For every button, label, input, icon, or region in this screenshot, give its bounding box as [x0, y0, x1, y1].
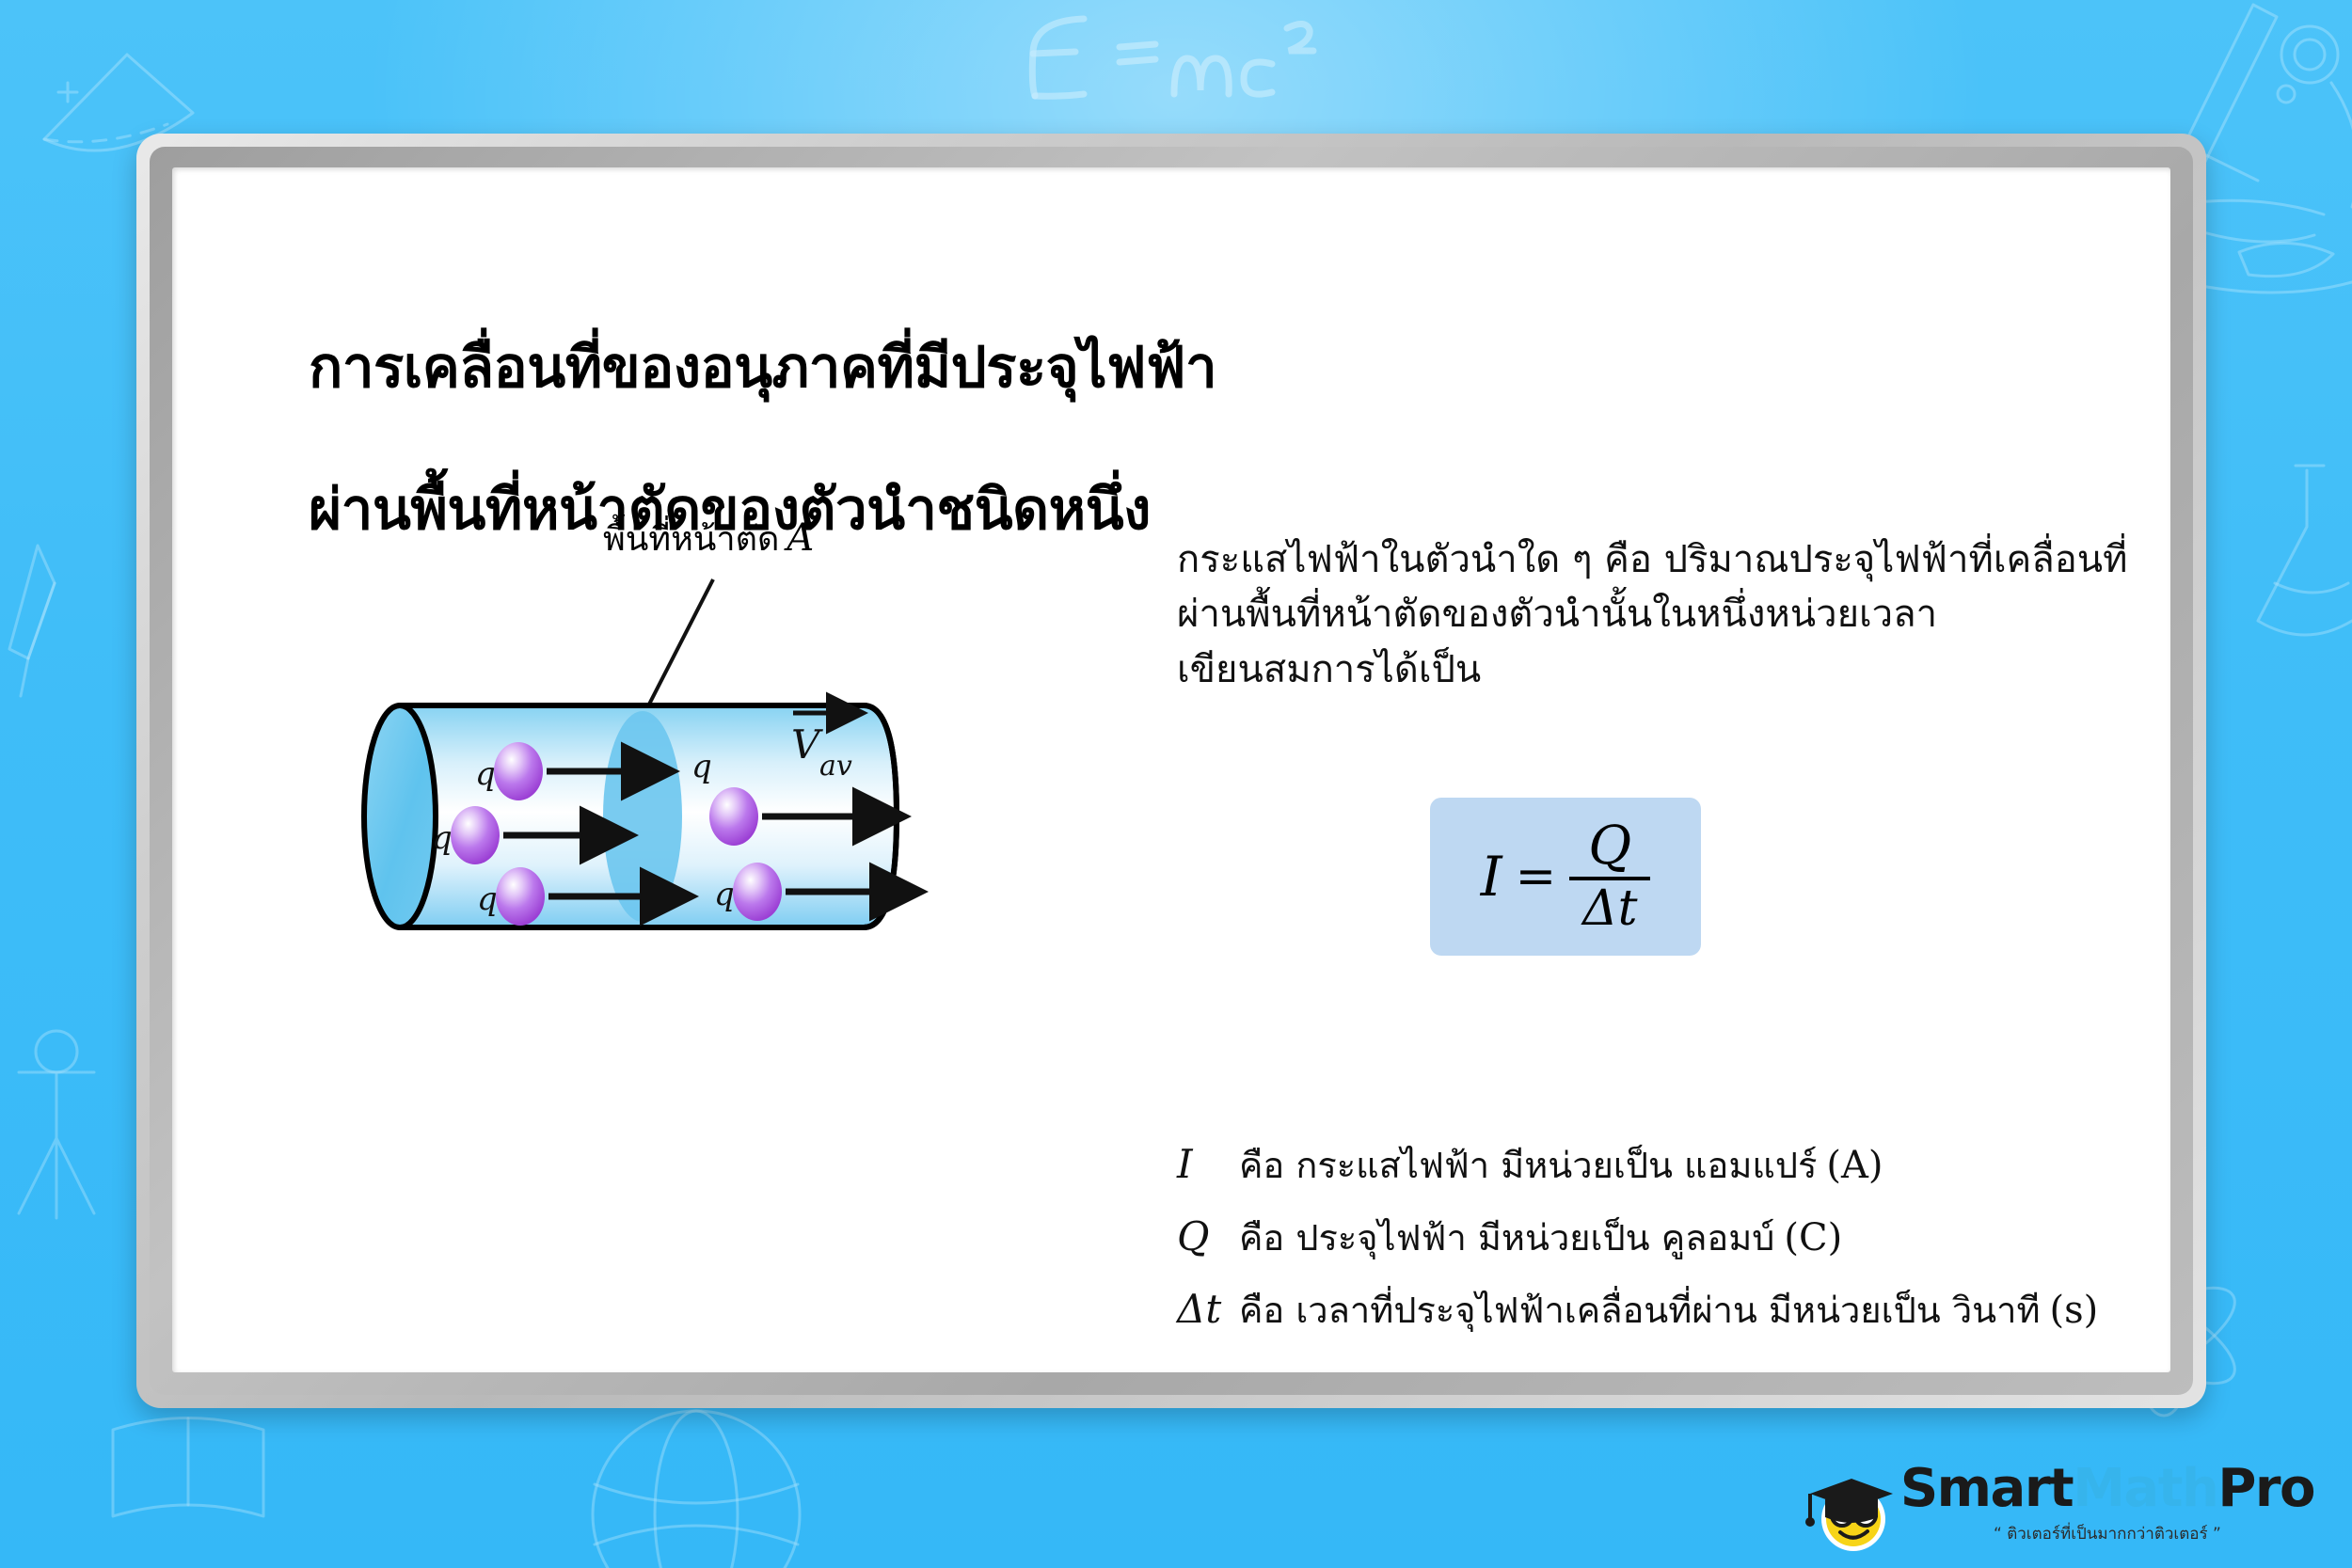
legend-unit: (s) [2041, 1289, 2099, 1332]
legend-description: คือ ประจุไฟฟ้า มีหน่วยเป็น คูลอมบ์ [1239, 1209, 1774, 1266]
book-doodle [113, 1418, 263, 1517]
formula-box: I = Q Δt [1430, 798, 1701, 956]
intro-paragraph: กระแสไฟฟ้าในตัวนำใด ๆ คือ ปริมาณประจุไฟฟ… [1177, 532, 2137, 697]
cylinder-left-cap [364, 705, 436, 927]
title-line-1: การเคลื่อนที่ของอนุภาคที่มีประจุไฟฟ้า [309, 333, 1216, 404]
legend-symbol: Q [1177, 1213, 1239, 1259]
intro-line-2: ผ่านพื้นที่หน้าตัดของตัวนำนั้นในหนึ่งหน่… [1177, 587, 2137, 641]
charge-label: q [691, 748, 712, 785]
pencil-doodle [9, 546, 55, 696]
whiteboard-surface: การเคลื่อนที่ของอนุภาคที่มีประจุไฟฟ้า ผ่… [172, 167, 2170, 1372]
velocity-subscript: av [819, 750, 852, 783]
symbol-legend: I คือ กระแสไฟฟ้า มีหน่วยเป็น แอมแปร์ (A)… [1177, 1136, 2170, 1354]
flask-doodle [2258, 466, 2352, 635]
globe-doodle [593, 1411, 800, 1568]
charge-label: q [477, 880, 498, 918]
legend-row: I คือ กระแสไฟฟ้า มีหน่วยเป็น แอมแปร์ (A) [1177, 1136, 2170, 1194]
charge-particle [451, 806, 500, 864]
graduate-face-icon [1804, 1470, 1895, 1557]
emc2-doodle [1032, 19, 1313, 96]
brand-logo: SmartMathPro “ ติวเตอร์ที่เป็นมากกว่าติว… [1804, 1463, 2314, 1557]
cross-section-ellipse [603, 711, 682, 922]
charge-label: q [714, 876, 735, 913]
cross-section-label-text: พื้นที่หน้าตัด [603, 520, 779, 559]
legend-row: Q คือ ประจุไฟฟ้า มีหน่วยเป็น คูลอมบ์ (C) [1177, 1209, 2170, 1266]
formula-equals-sign: = [1516, 848, 1557, 905]
formula-lhs: I [1481, 845, 1502, 909]
stand-doodle [19, 1031, 94, 1218]
legend-description: คือ เวลาที่ประจุไฟฟ้าเคลื่อนที่ผ่าน มีหน… [1239, 1281, 2041, 1338]
intro-line-3: เขียนสมการได้เป็น [1177, 642, 2137, 697]
cross-section-label: พื้นที่หน้าตัดA [603, 512, 814, 565]
intro-line-1: กระแสไฟฟ้าในตัวนำใด ๆ คือ ปริมาณประจุไฟฟ… [1177, 532, 2137, 587]
legend-symbol: Δt [1177, 1286, 1239, 1332]
legend-description: คือ กระแสไฟฟ้า มีหน่วยเป็น แอมแปร์ [1239, 1136, 1817, 1194]
charge-label: q [475, 755, 496, 793]
logo-word-math: Math [2073, 1458, 2217, 1519]
charge-particle [733, 863, 782, 921]
legend-unit: (A) [1817, 1144, 1883, 1187]
charge-particle [494, 742, 543, 800]
legend-unit: (C) [1774, 1216, 1842, 1259]
logo-tagline: “ ติวเตอร์ที่เป็นมากกว่าติวเตอร์ ” [1900, 1521, 2314, 1546]
conductor-diagram: พื้นที่หน้าตัดA [332, 506, 1160, 1221]
formula-numerator: Q [1588, 820, 1631, 877]
cylinder-svg: q q q q [332, 506, 1160, 1221]
legend-row: Δt คือ เวลาที่ประจุไฟฟ้าเคลื่อนที่ผ่าน ม… [1177, 1281, 2170, 1338]
formula-denominator: Δt [1582, 880, 1637, 933]
legend-symbol: I [1177, 1141, 1239, 1187]
logo-word-smart: Smart [1900, 1458, 2073, 1519]
velocity-symbol: V [791, 721, 823, 768]
logo-word-pro: Pro [2217, 1458, 2314, 1519]
charge-particle [496, 867, 545, 926]
logo-wordmark: SmartMathPro [1900, 1463, 2314, 1515]
whiteboard-frame: การเคลื่อนที่ของอนุภาคที่มีประจุไฟฟ้า ผ่… [136, 134, 2206, 1408]
charge-particle [709, 787, 758, 846]
formula-fraction: Q Δt [1569, 820, 1650, 933]
cross-section-symbol: A [779, 516, 814, 560]
charge-label: q [432, 819, 453, 857]
